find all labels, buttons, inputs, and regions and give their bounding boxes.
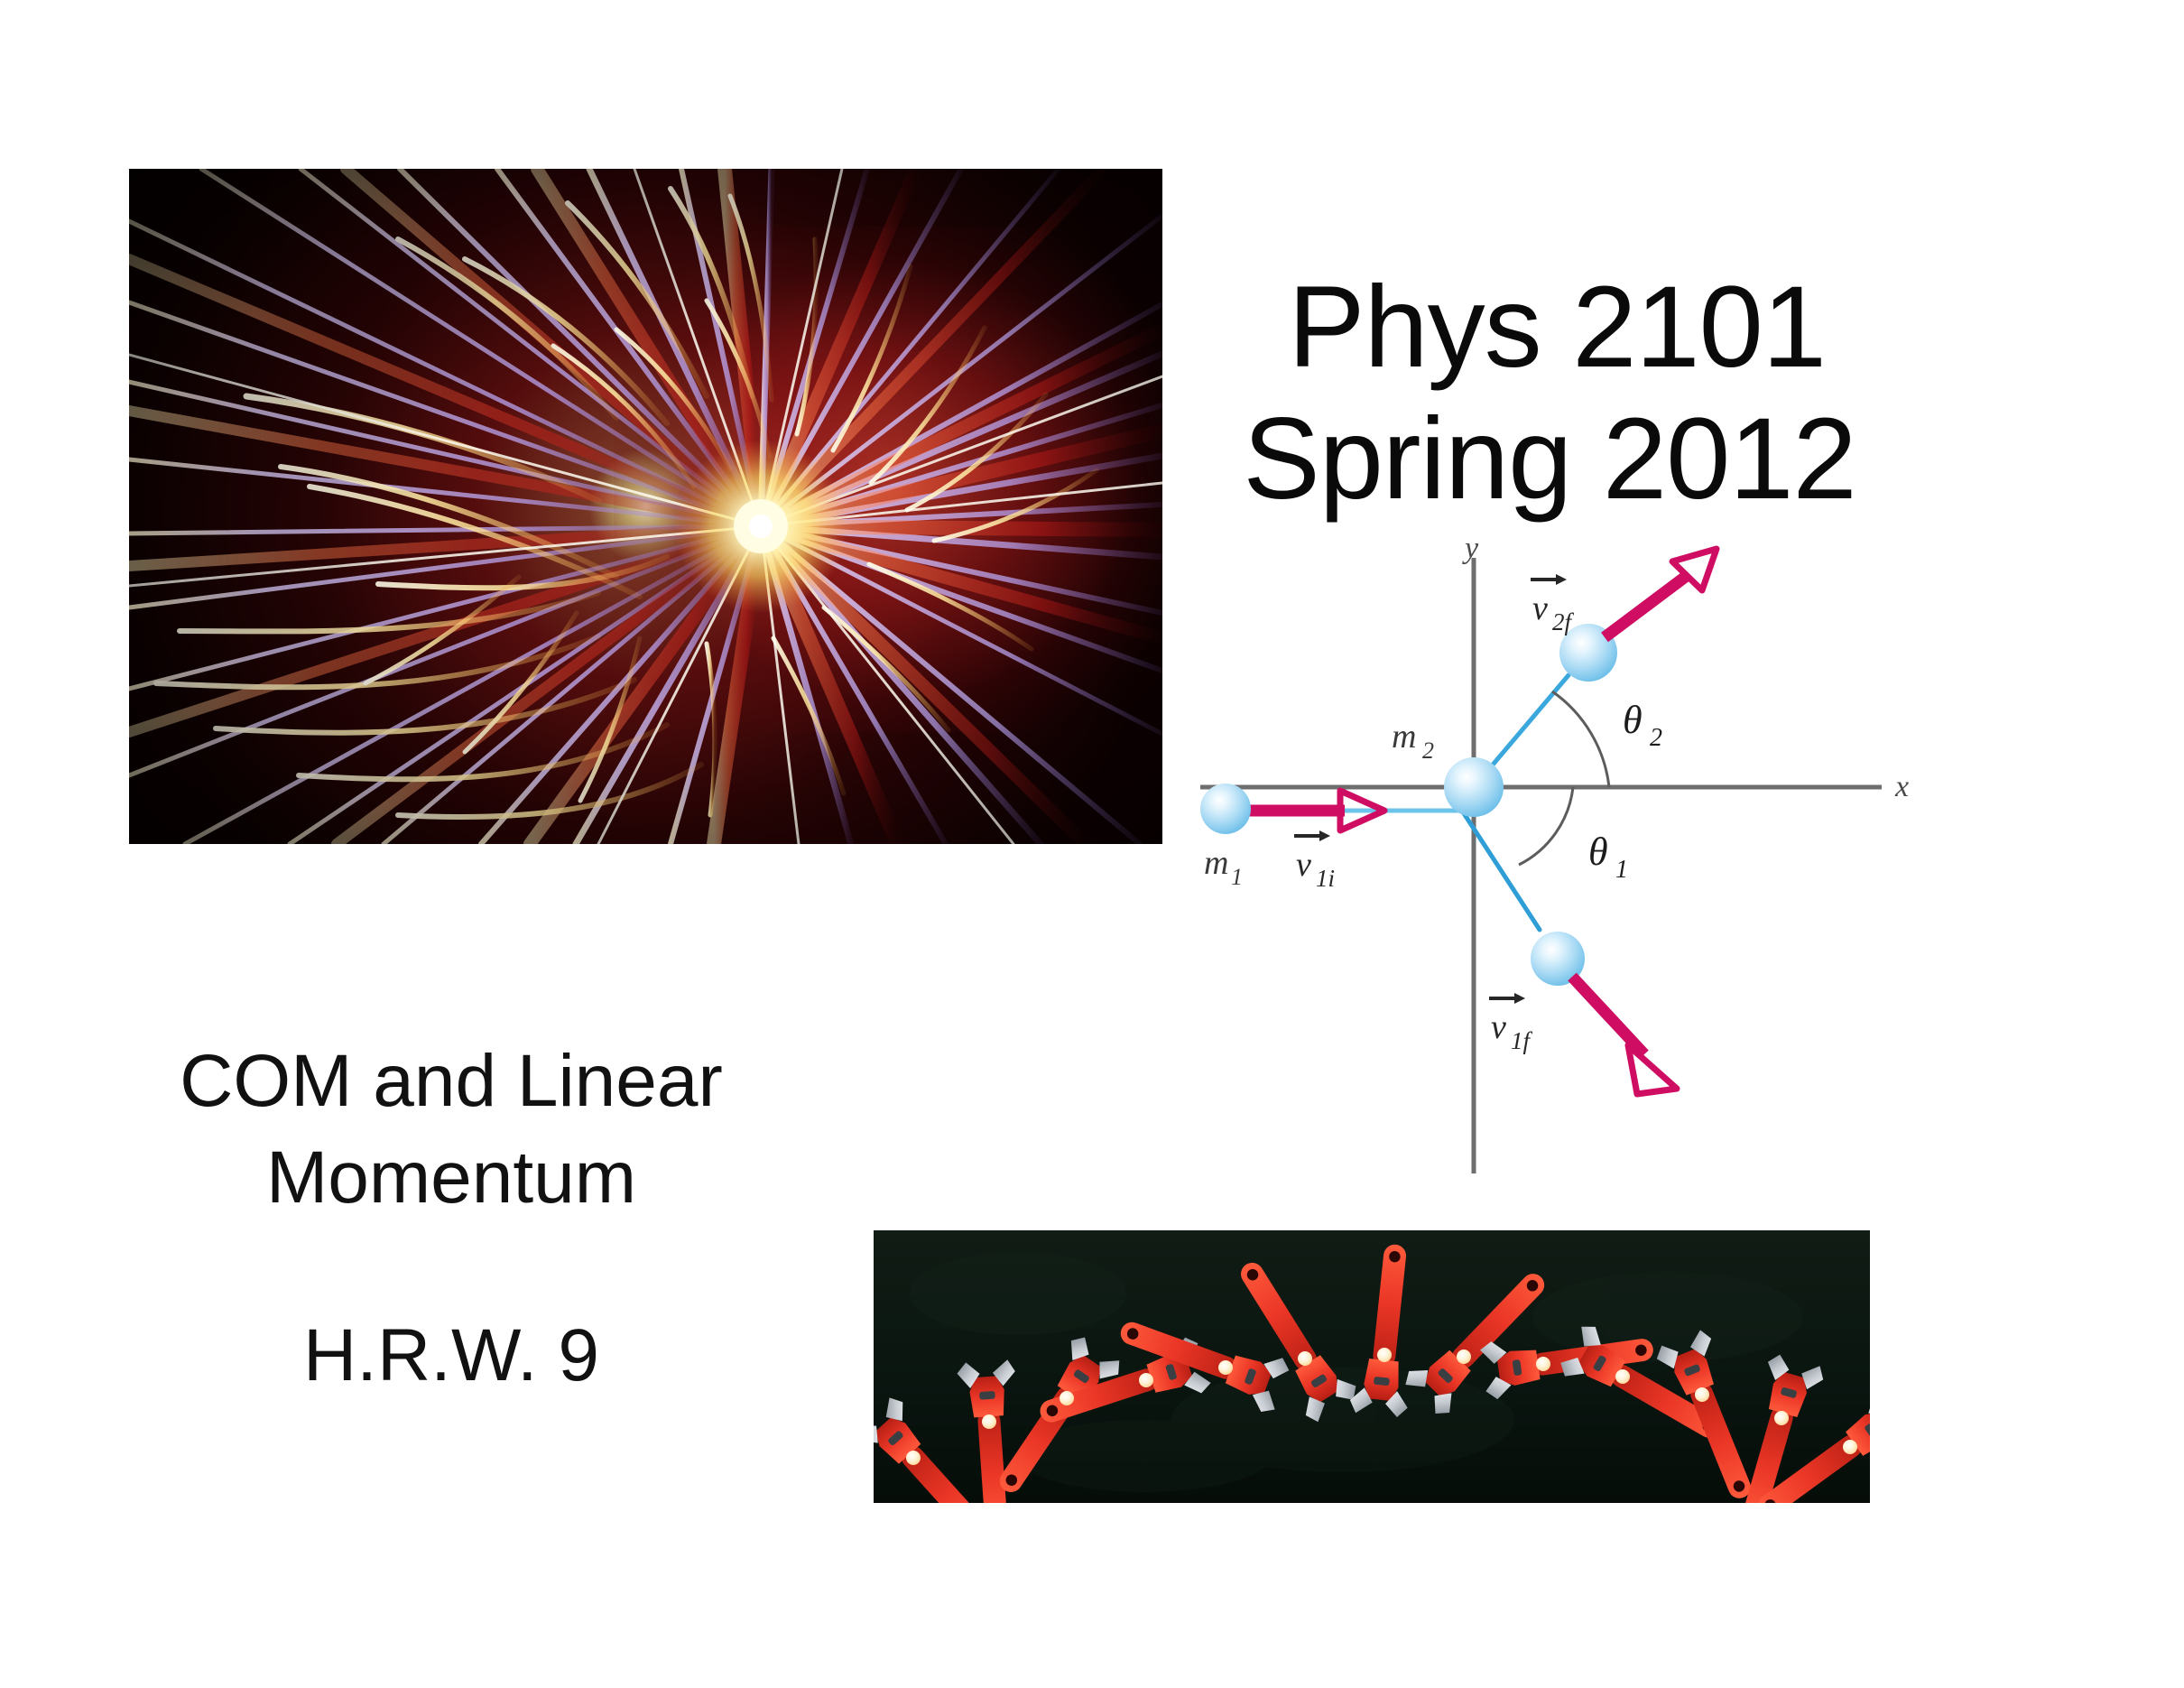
theta2-arc (1552, 691, 1609, 787)
fireworks-rays (129, 169, 1162, 844)
velocity-final-2-arrow (1605, 549, 1717, 637)
velocity-final-2-label: v 2f (1531, 574, 1575, 635)
textbook-reference: H.R.W. 9 (108, 1313, 794, 1398)
svg-text:m: m (1204, 844, 1228, 882)
svg-text:2f: 2f (1552, 608, 1575, 635)
velocity-initial-label: v 1i (1294, 830, 1335, 892)
two-dimensional-elastic-collision-diagram: x y θ 2 θ 1 (1200, 542, 1922, 1173)
y-axis-label: y (1462, 542, 1479, 565)
svg-text:2: 2 (1422, 737, 1434, 764)
mass-1-ball (1200, 784, 1251, 834)
stroboscopic-wrench-center-of-mass-photo (874, 1230, 1870, 1503)
svg-text:1: 1 (1231, 864, 1243, 890)
svg-text:1i: 1i (1316, 865, 1335, 892)
theta1-label: θ 1 (1588, 830, 1628, 884)
svg-text:1: 1 (1615, 856, 1628, 884)
subtitle-line-2: Momentum (108, 1130, 794, 1227)
svg-text:2: 2 (1650, 724, 1662, 752)
velocity-final-1-label: v 1f (1489, 993, 1533, 1054)
svg-text:1f: 1f (1511, 1027, 1533, 1054)
svg-text:m: m (1392, 718, 1416, 756)
title-line-course: Phys 2101 (1214, 262, 1900, 394)
subtitle-line-1: COM and Linear (108, 1034, 794, 1130)
page-title: Phys 2101 Spring 2012 (1214, 262, 1900, 525)
svg-text:θ: θ (1588, 830, 1608, 874)
slide-canvas: Phys 2101 Spring 2012 COM and Linear Mom… (0, 0, 2184, 1688)
velocity-final-1-arrow (1572, 977, 1677, 1094)
svg-text:v: v (1296, 846, 1311, 884)
mass-2-ball (1444, 757, 1504, 817)
svg-text:v: v (1491, 1008, 1506, 1046)
svg-text:θ: θ (1623, 698, 1643, 742)
trajectory-lines (1307, 675, 1569, 930)
mass-2-label: m 2 (1392, 718, 1434, 764)
svg-text:v: v (1532, 589, 1548, 627)
fireworks-burst-photo (129, 169, 1162, 844)
theta1-arc (1519, 787, 1573, 865)
mass-1-label: m 1 (1204, 844, 1243, 890)
title-line-term: Spring 2012 (1199, 394, 1900, 525)
wrench-strobe-frames (874, 1230, 1870, 1503)
theta2-label: θ 2 (1623, 698, 1662, 752)
x-axis-label: x (1894, 770, 1909, 803)
slide-subtitle: COM and Linear Momentum (108, 1034, 794, 1226)
